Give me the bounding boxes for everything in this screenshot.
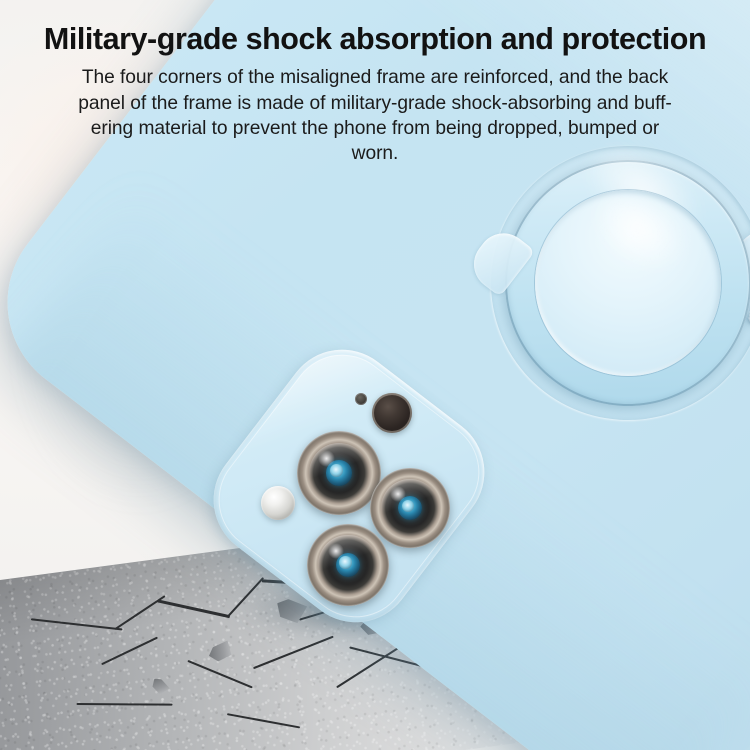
telephoto-lens-pupil [402, 500, 414, 512]
product-feature-banner: ✳✳✳ Military-grade shock absorpti [0, 0, 750, 750]
wide-lens-pupil [330, 464, 343, 477]
flash-module [261, 486, 295, 520]
ultrawide-lens-pupil [339, 556, 351, 568]
description-line: ering material to prevent the phone from… [30, 116, 720, 141]
page-title: Military-grade shock absorption and prot… [0, 0, 750, 56]
description-line: worn. [30, 141, 720, 166]
ultrawide-lens-glint [328, 543, 344, 559]
microphone-dot [355, 393, 367, 405]
description-line: panel of the frame is made of military-g… [30, 91, 720, 116]
page-description: The four corners of the misaligned frame… [30, 65, 720, 167]
ultrawide-lens [307, 524, 389, 606]
description-line: The four corners of the misaligned frame… [30, 65, 720, 90]
text-block: Military-grade shock absorption and prot… [0, 0, 750, 167]
wide-lens [297, 431, 381, 515]
wide-lens-glint [318, 450, 335, 467]
lidar-sensor [372, 393, 412, 433]
lidar-sensor-ring [372, 393, 412, 433]
telephoto-lens [370, 468, 450, 548]
